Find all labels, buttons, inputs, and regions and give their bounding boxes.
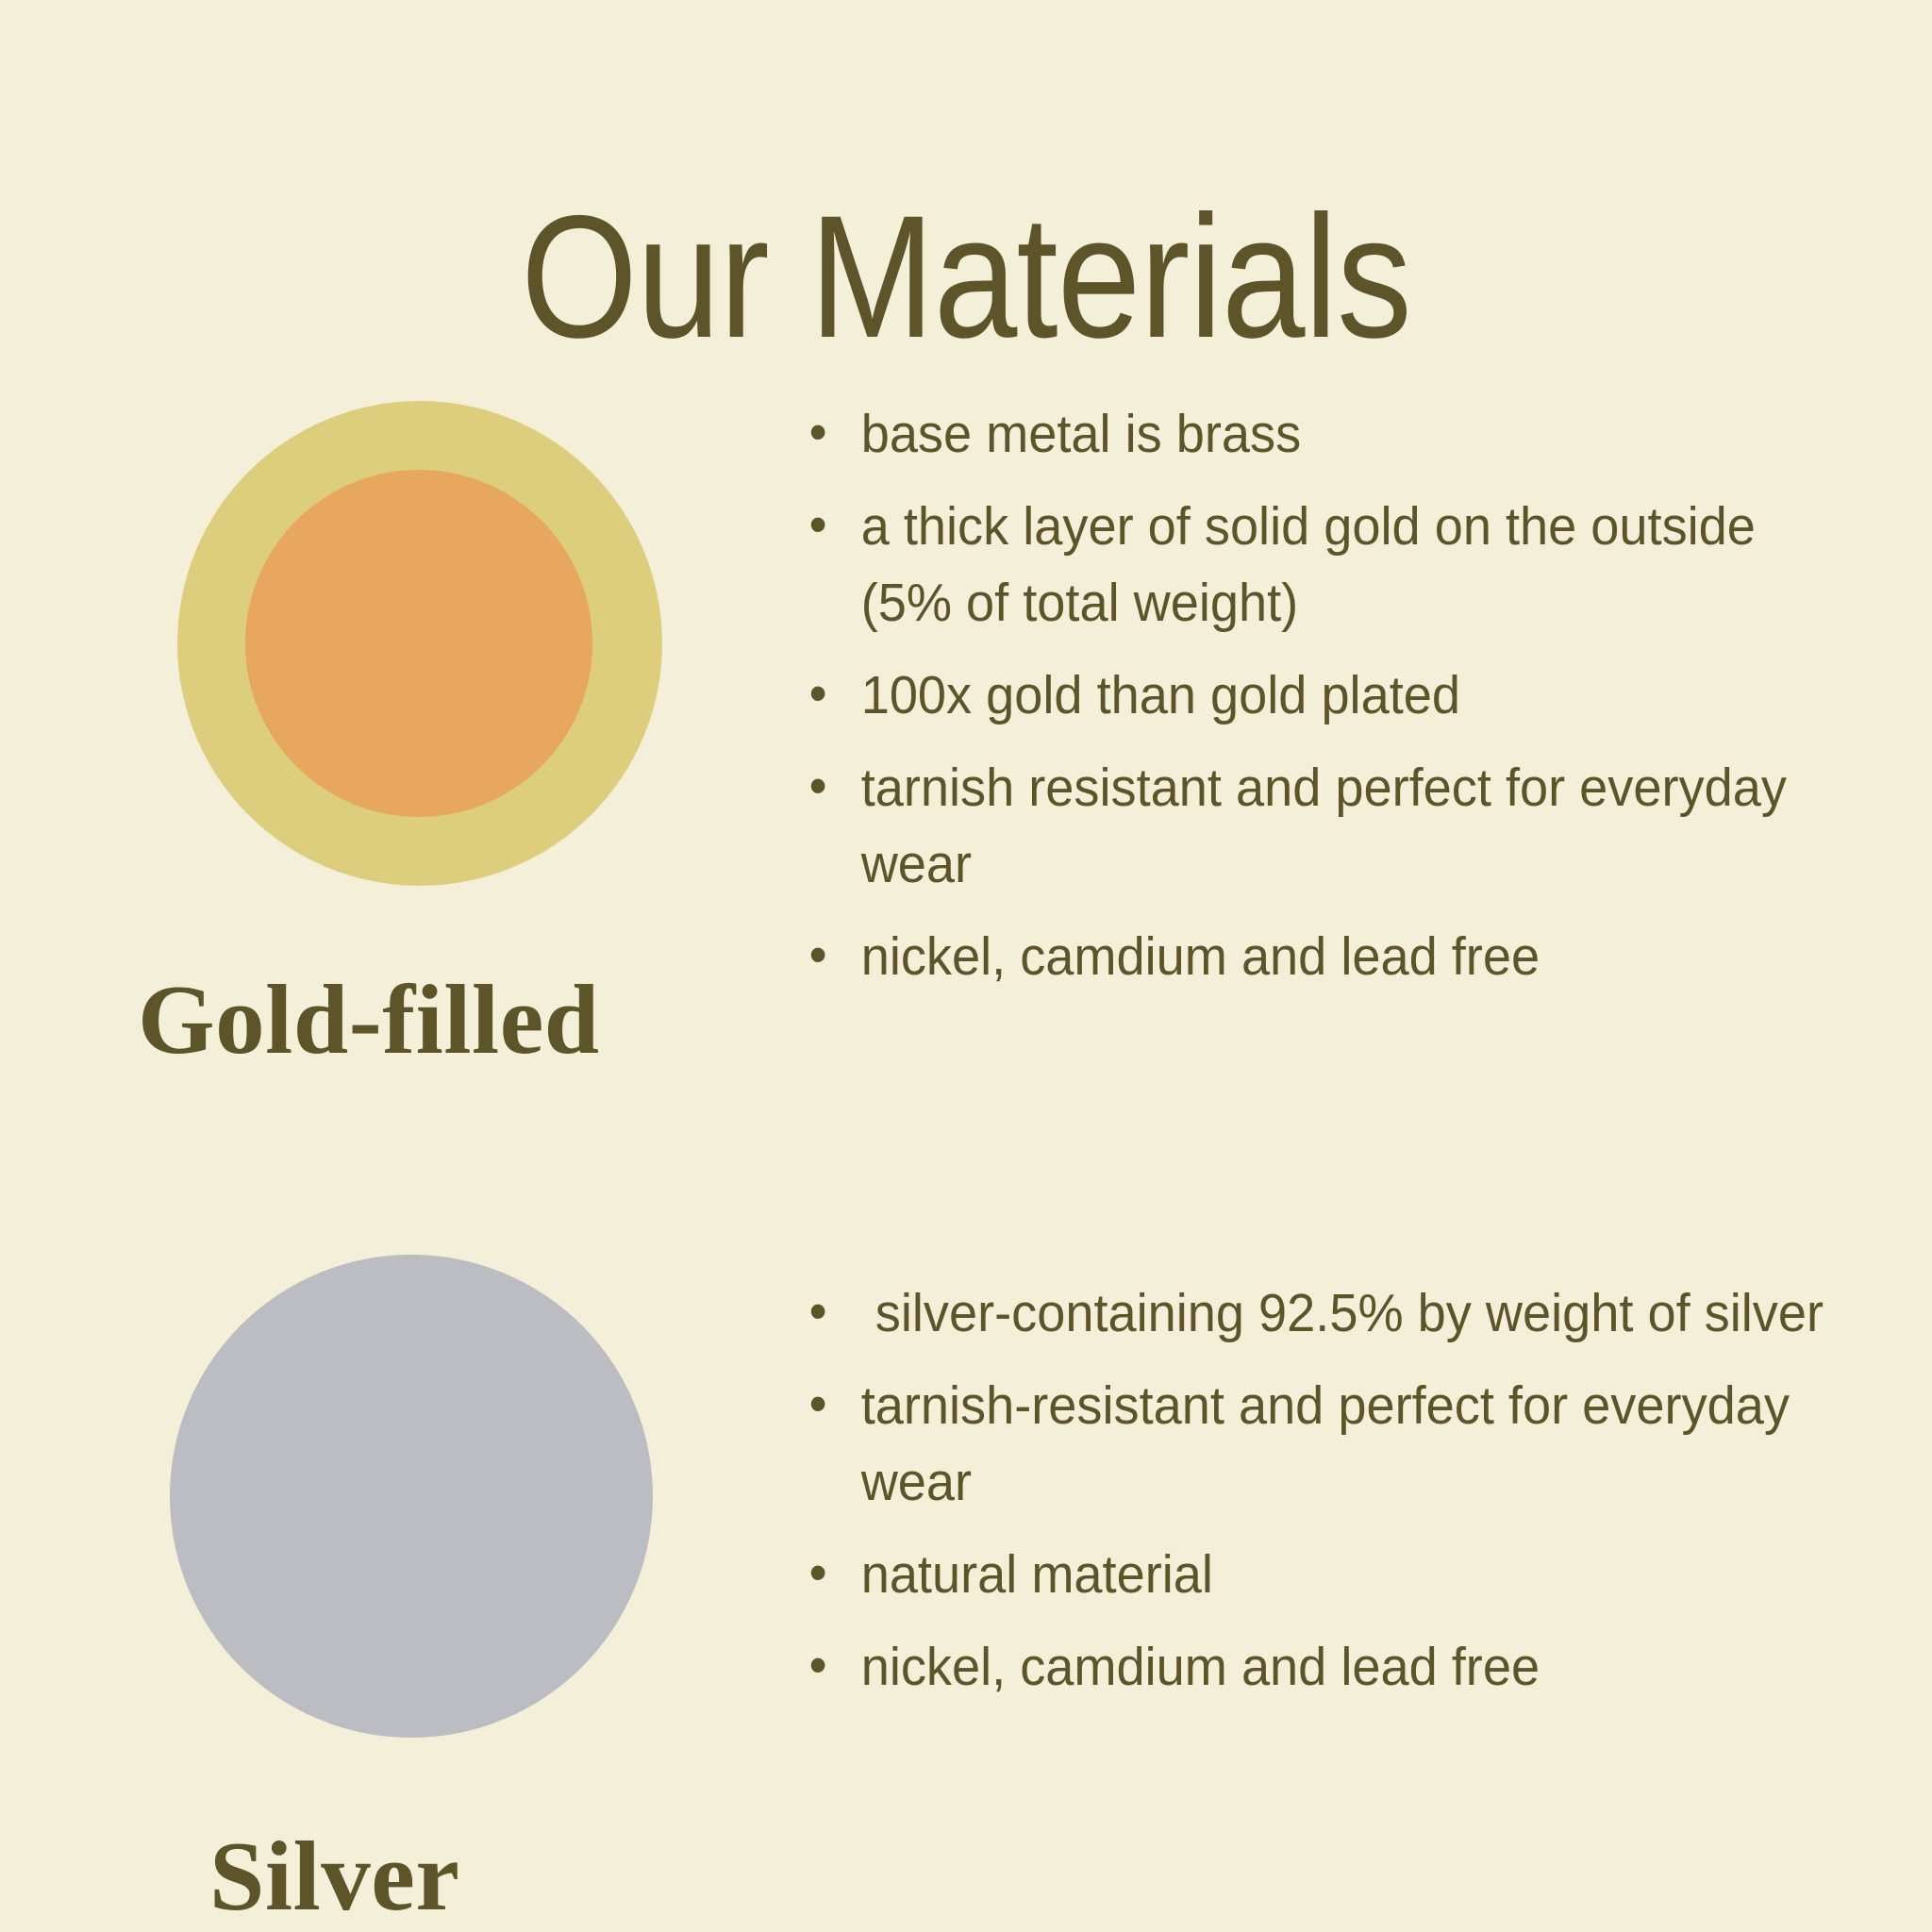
list-item: a thick layer of solid gold on the outsi… [802,489,1859,641]
list-item: nickel, camdium and lead free [802,919,1859,995]
list-item: silver-containing 92.5% by weight of sil… [802,1275,1859,1352]
page-title: Our Materials [135,185,1796,370]
list-item: base metal is brass [802,396,1859,473]
list-item: tarnish resistant and perfect for everyd… [802,750,1859,903]
silver-bullet-list: silver-containing 92.5% by weight of sil… [802,1275,1859,1722]
list-item: natural material [802,1537,1859,1613]
list-item: 100x gold than gold plated [802,658,1859,734]
list-item: nickel, camdium and lead free [802,1629,1859,1706]
silver-circle-icon [170,1255,653,1738]
materials-poster: Our Materials Gold-filled base metal is … [0,0,1932,1932]
gold-inner-circle-icon [245,470,592,817]
gold-filled-bullet-list: base metal is brass a thick layer of sol… [802,396,1859,1011]
gold-filled-label: Gold-filled [138,970,600,1069]
silver-label: Silver [209,1826,459,1925]
list-item: tarnish-resistant and perfect for everyd… [802,1368,1859,1521]
